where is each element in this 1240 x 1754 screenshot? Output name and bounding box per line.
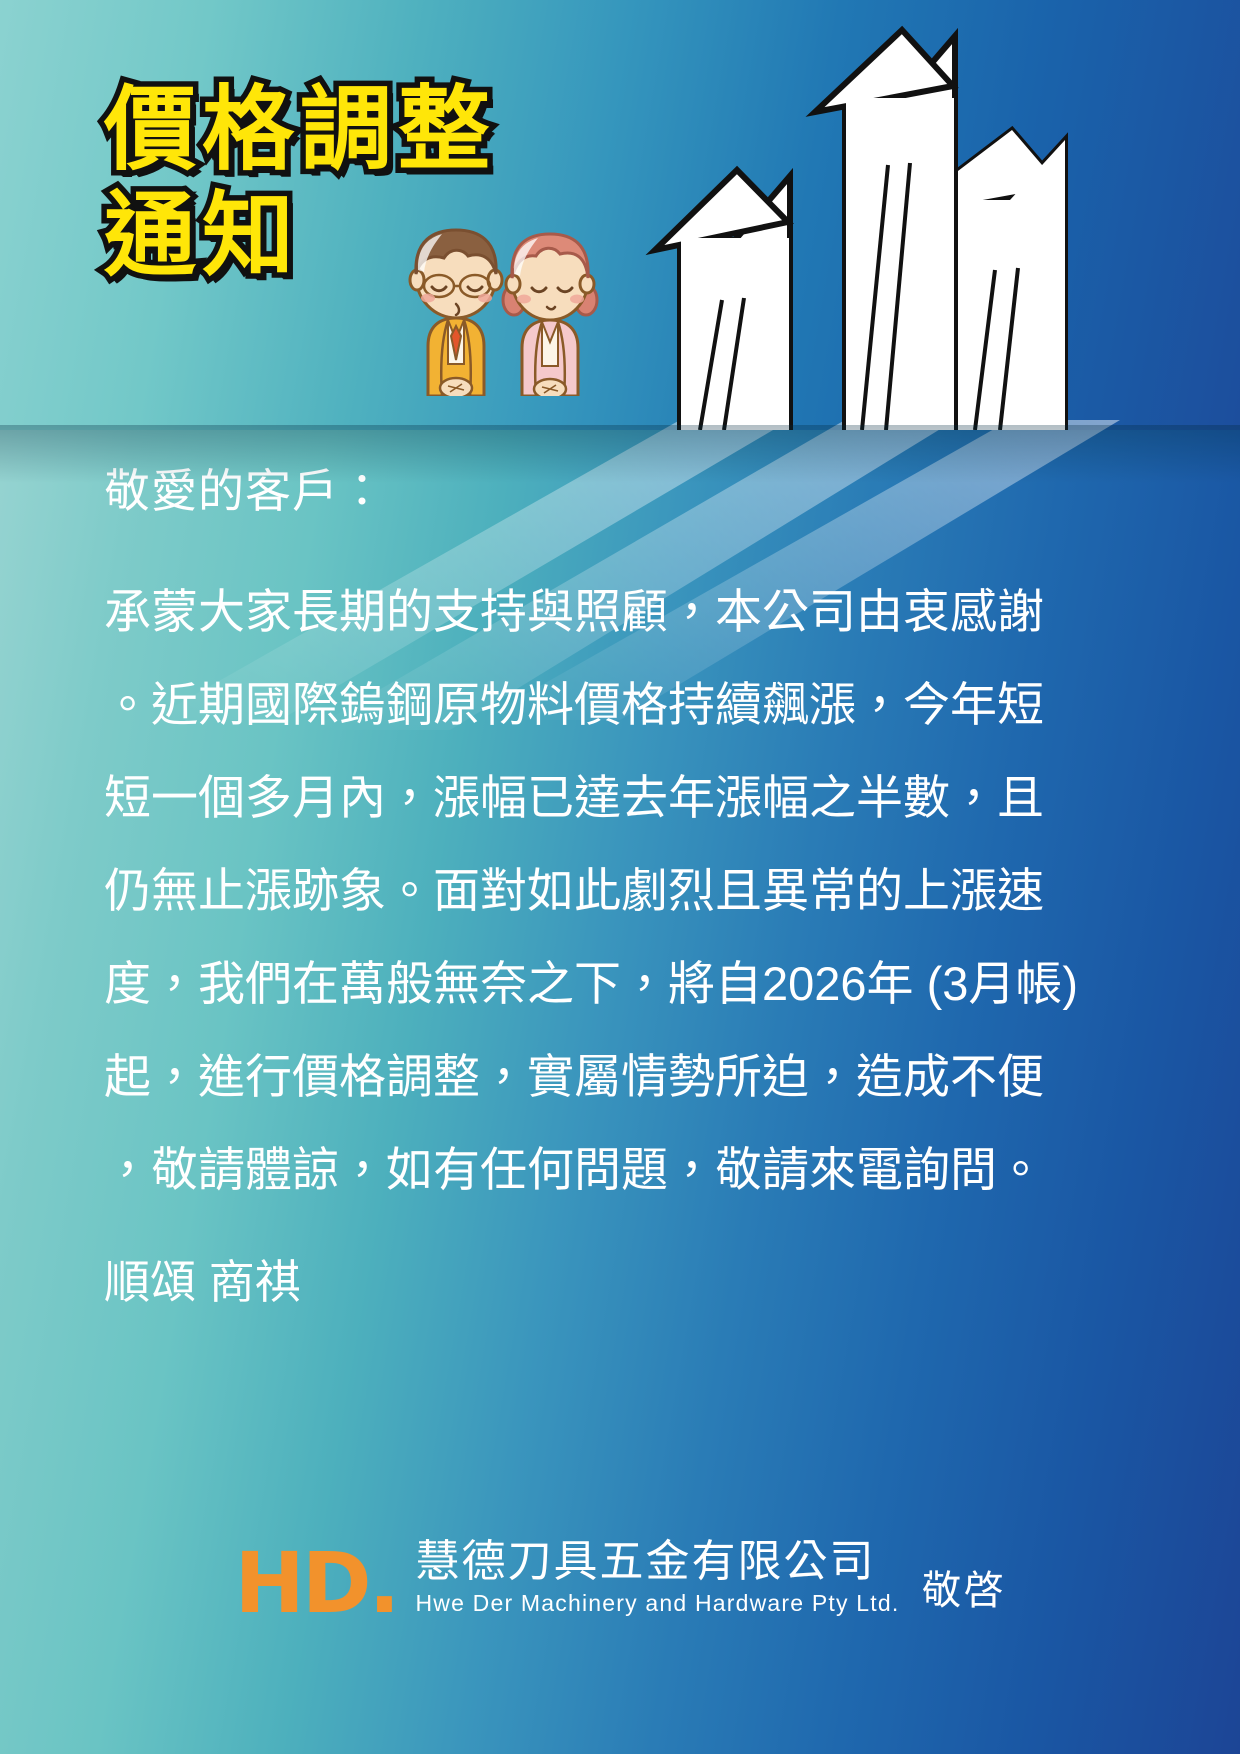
letter-line: 。近期國際鎢鋼原物料價格持續飆漲，今年短 bbox=[104, 658, 1034, 751]
up-arrow-icon bbox=[655, 170, 790, 430]
respect-word: 敬啓 bbox=[921, 1558, 1005, 1616]
letter-line: ，敬請體諒，如有任何問題，敬請來電詢問。 bbox=[104, 1123, 1034, 1216]
title-line-1: 價格調整 bbox=[104, 84, 496, 176]
company-logo: HD. bbox=[235, 1544, 398, 1624]
price-adjustment-notice-poster: 價格調整 通知 bbox=[0, 0, 1240, 1754]
title-line-2: 通知 bbox=[104, 190, 496, 282]
letter-closing: 順頌 商祺 bbox=[104, 1246, 1034, 1312]
footer-signature: HD. 慧德刀具五金有限公司 Hwe Der Machinery and Har… bbox=[0, 1518, 1240, 1638]
letter-paragraph: 承蒙大家長期的支持與照顧，本公司由衷感謝 。近期國際鎢鋼原物料價格持續飆漲，今年… bbox=[104, 565, 1034, 1216]
letter-line: 仍無止漲跡象。面對如此劇烈且異常的上漲速 bbox=[104, 844, 1034, 937]
bowing-businesswoman-icon bbox=[503, 234, 597, 396]
company-name-zh: 慧德刀具五金有限公司 bbox=[415, 1538, 899, 1586]
letter-body: 敬愛的客戶： 承蒙大家長期的支持與照顧，本公司由衷感謝 。近期國際鎢鋼原物料價格… bbox=[104, 455, 1034, 1312]
up-arrow-icon bbox=[815, 30, 955, 430]
header-banner: 價格調整 通知 bbox=[0, 0, 1240, 430]
poster-title: 價格調整 通知 bbox=[104, 84, 496, 282]
letter-line: 短一個多月內，漲幅已達去年漲幅之半數，且 bbox=[104, 751, 1034, 844]
company-name-en: Hwe Der Machinery and Hardware Pty Ltd. bbox=[415, 1589, 899, 1618]
letter-salutation: 敬愛的客戶： bbox=[104, 455, 1034, 521]
letter-line: 承蒙大家長期的支持與照顧，本公司由衷感謝 bbox=[104, 565, 1034, 658]
letter-line: 度，我們在萬般無奈之下，將自2026年 (3月帳) bbox=[104, 937, 1034, 1030]
letter-line: 起，進行價格調整，實屬情勢所迫，造成不便 bbox=[104, 1030, 1034, 1123]
